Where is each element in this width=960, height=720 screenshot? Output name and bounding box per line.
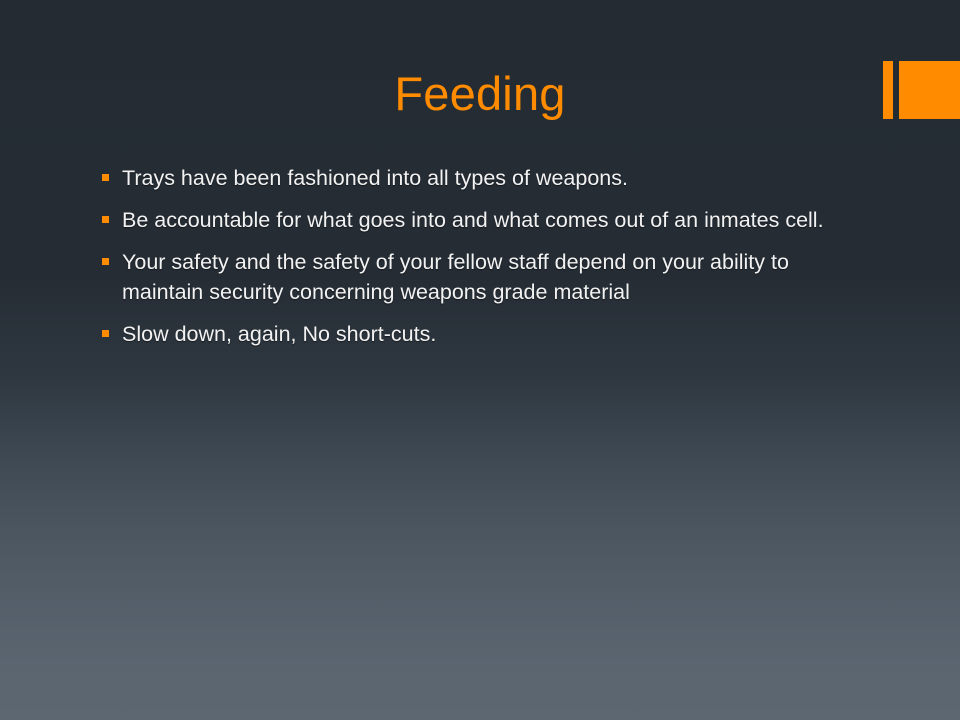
list-item: Your safety and the safety of your fello… (100, 247, 852, 307)
list-item-text: Trays have been fashioned into all types… (122, 163, 852, 193)
list-item: Trays have been fashioned into all types… (100, 163, 852, 193)
list-item: Slow down, again, No short-cuts. (100, 319, 852, 349)
bullet-square-icon (102, 258, 109, 265)
bullet-square-icon (102, 216, 109, 223)
slide-body: Trays have been fashioned into all types… (100, 163, 852, 349)
slide-title: Feeding (0, 69, 960, 120)
slide: Feeding Trays have been fashioned into a… (0, 0, 960, 720)
bullet-square-icon (102, 174, 109, 181)
bullet-square-icon (102, 330, 109, 337)
list-item-text: Be accountable for what goes into and wh… (122, 205, 852, 235)
list-item-text: Slow down, again, No short-cuts. (122, 319, 852, 349)
list-item: Be accountable for what goes into and wh… (100, 205, 852, 235)
list-item-text: Your safety and the safety of your fello… (122, 247, 852, 307)
